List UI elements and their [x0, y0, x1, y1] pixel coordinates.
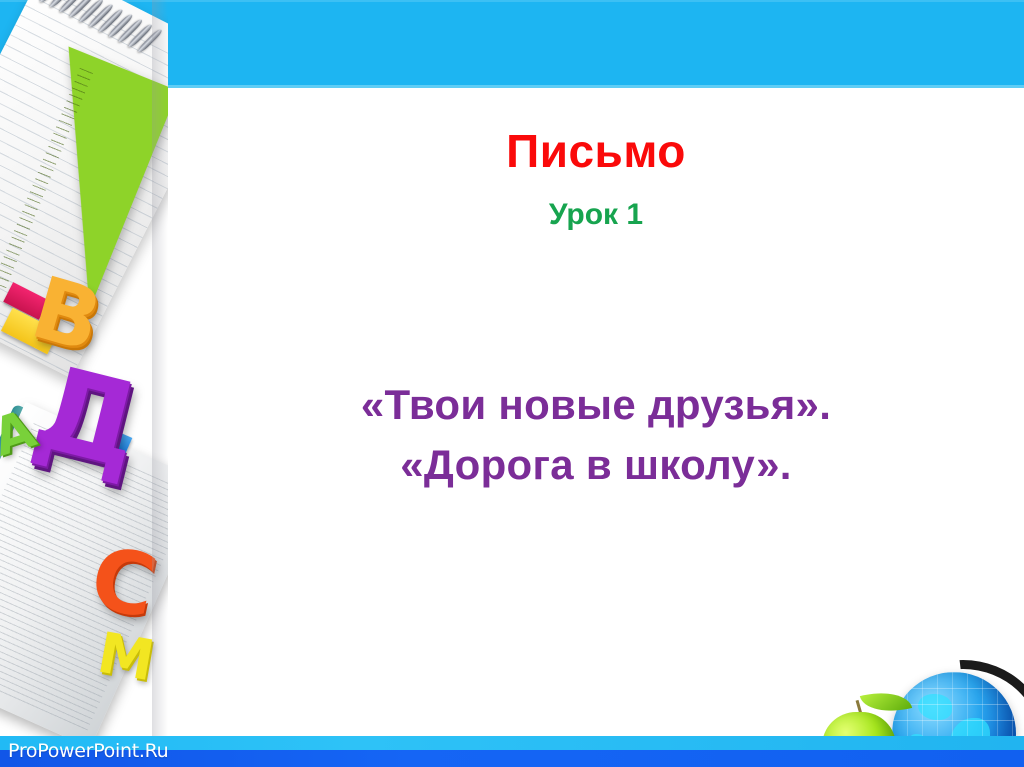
strip-edge-shadow	[152, 0, 168, 767]
page-title: Письмо	[168, 124, 1024, 178]
body-line: «Твои новые друзья».	[168, 375, 1024, 435]
body-text-block: «Твои новые друзья». «Дорога в школу».	[168, 375, 1024, 494]
letter-m-icon: М	[94, 626, 159, 691]
footer-watermark: ProPowerPoint.Ru	[8, 740, 168, 762]
presentation-slide: В Д А С М Письмо Урок 1 «Твои новые друз…	[0, 0, 1024, 767]
body-line: «Дорога в школу».	[168, 435, 1024, 495]
left-decoration-strip: В Д А С М	[0, 0, 168, 767]
page-subtitle: Урок 1	[168, 198, 1024, 232]
